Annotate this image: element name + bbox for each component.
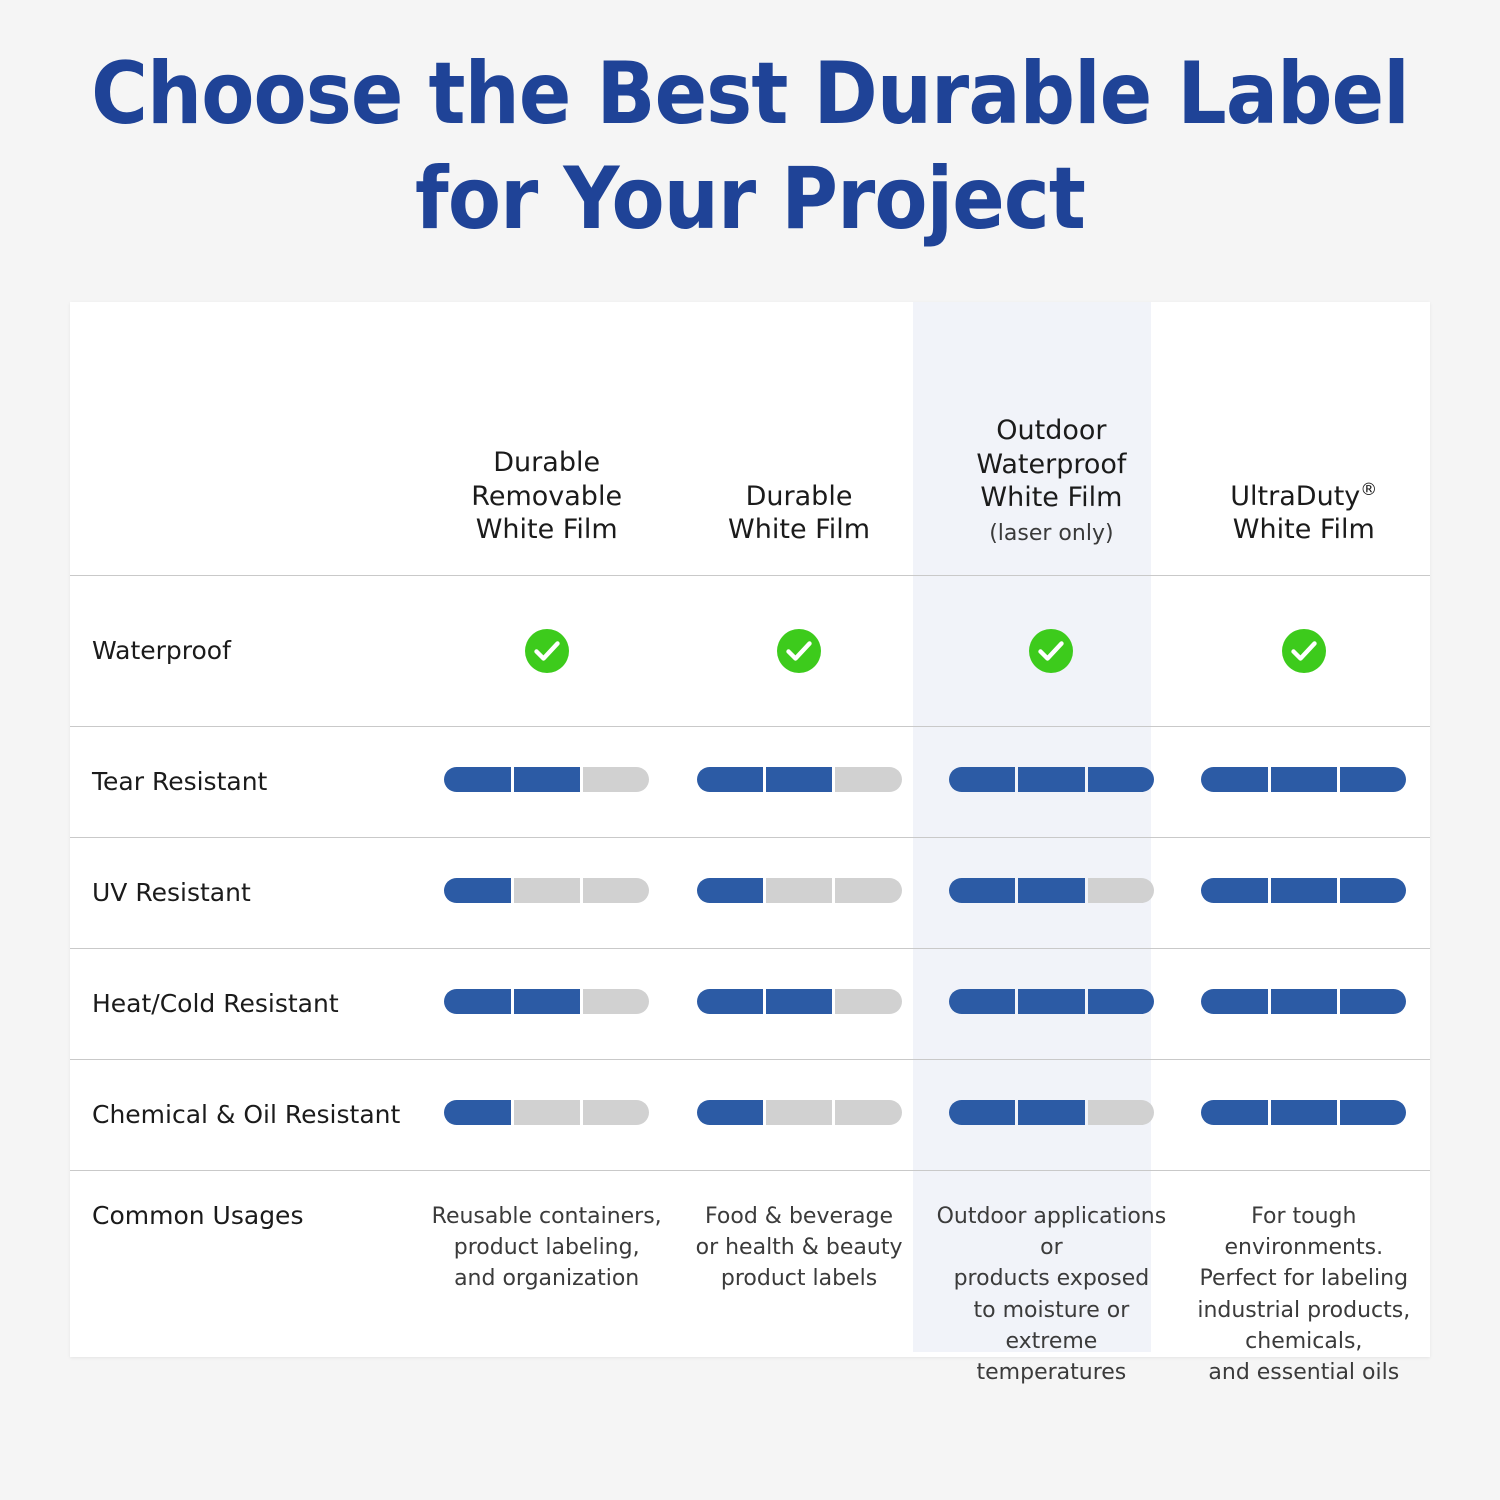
rating-bar	[697, 767, 902, 792]
column-header-durable-removable-white-film: Durable Removable White Film	[421, 302, 673, 576]
rating-segment	[1340, 878, 1406, 903]
rating-segment	[444, 1100, 510, 1125]
page-title-line-1: Choose the Best Durable Label	[75, 42, 1425, 147]
rating-segment	[949, 878, 1015, 903]
column-header-line-1: Durable Removable	[421, 446, 673, 513]
table-row-common-usages: Common Usages Reusable containers,produc…	[70, 1170, 1430, 1401]
cell-waterproof-outdoor-waterproof	[925, 575, 1177, 726]
rating-bar	[1201, 989, 1406, 1014]
rating-segment	[697, 767, 763, 792]
rating-segment	[583, 989, 649, 1014]
rating-bar	[949, 989, 1154, 1014]
table-row-tear-resistant: Tear Resistant	[70, 726, 1430, 837]
rating-segment	[1271, 878, 1337, 903]
column-header-outdoor-waterproof-white-film: Outdoor Waterproof White Film (laser onl…	[925, 302, 1177, 576]
rating-segment	[514, 1100, 580, 1125]
cell-heat-ultraduty	[1178, 948, 1430, 1059]
column-header-line-2: White Film	[673, 513, 925, 546]
cell-usages-durable: Food & beverageor health & beautyproduct…	[673, 1170, 925, 1401]
cell-chemical-outdoor-waterproof	[925, 1059, 1177, 1170]
rating-bar	[444, 1100, 649, 1125]
registered-trademark-icon: ®	[1360, 480, 1377, 500]
rating-segment	[1201, 767, 1267, 792]
rating-bar	[444, 878, 649, 903]
cell-tear-durable	[673, 726, 925, 837]
rating-segment	[1088, 989, 1154, 1014]
column-header-durable-white-film: Durable White Film	[673, 302, 925, 576]
column-header-line-2: White Film	[421, 513, 673, 546]
cell-usages-durable-removable: Reusable containers,product labeling,and…	[421, 1170, 673, 1401]
rating-bar	[1201, 878, 1406, 903]
cell-usages-ultraduty: For tough environments.Perfect for label…	[1178, 1170, 1430, 1401]
rating-segment	[949, 767, 1015, 792]
cell-waterproof-durable-removable	[421, 575, 673, 726]
cell-usages-outdoor-waterproof: Outdoor applications orproducts exposedt…	[925, 1170, 1177, 1401]
rating-segment	[444, 989, 510, 1014]
rating-segment	[766, 1100, 832, 1125]
rating-segment	[949, 989, 1015, 1014]
row-label-common-usages: Common Usages	[70, 1170, 421, 1401]
cell-uv-outdoor-waterproof	[925, 837, 1177, 948]
check-circle-icon	[1028, 628, 1074, 674]
cell-tear-outdoor-waterproof	[925, 726, 1177, 837]
column-header-subtitle: (laser only)	[925, 520, 1177, 547]
comparison-card-wrapper: Durable Removable White Film Durable Whi…	[70, 302, 1430, 1357]
table-body: Waterproof	[70, 575, 1430, 1401]
cell-uv-durable-removable	[421, 837, 673, 948]
page-title: Choose the Best Durable Label for Your P…	[0, 0, 1500, 252]
rating-segment	[1018, 767, 1084, 792]
rating-segment	[835, 1100, 901, 1125]
column-header-brand: UltraDuty	[1230, 481, 1360, 512]
column-header-ultraduty-white-film: UltraDuty® White Film	[1178, 302, 1430, 576]
rating-segment	[697, 989, 763, 1014]
rating-segment	[583, 878, 649, 903]
rating-segment	[1271, 767, 1337, 792]
cell-tear-durable-removable	[421, 726, 673, 837]
page-title-line-2: for Your Project	[75, 147, 1425, 252]
rating-bar	[1201, 767, 1406, 792]
rating-bar	[949, 878, 1154, 903]
cell-uv-ultraduty	[1178, 837, 1430, 948]
rating-segment	[1201, 1100, 1267, 1125]
rating-segment	[1340, 989, 1406, 1014]
table-row-heat-cold-resistant: Heat/Cold Resistant	[70, 948, 1430, 1059]
rating-segment	[1088, 1100, 1154, 1125]
rating-segment	[835, 989, 901, 1014]
rating-segment	[514, 767, 580, 792]
rating-segment	[444, 878, 510, 903]
rating-segment	[1018, 878, 1084, 903]
rating-bar	[697, 1100, 902, 1125]
row-label-uv-resistant: UV Resistant	[70, 837, 421, 948]
rating-segment	[1088, 878, 1154, 903]
check-circle-icon	[1281, 628, 1327, 674]
column-header-line-1: Durable	[673, 480, 925, 513]
rating-segment	[949, 1100, 1015, 1125]
comparison-card: Durable Removable White Film Durable Whi…	[70, 302, 1430, 1357]
table-header: Durable Removable White Film Durable Whi…	[70, 302, 1430, 576]
column-header-line-1: UltraDuty®	[1178, 480, 1430, 513]
rating-segment	[1271, 1100, 1337, 1125]
check-circle-icon	[524, 628, 570, 674]
usage-text: Outdoor applications orproducts exposedt…	[925, 1201, 1177, 1388]
cell-tear-ultraduty	[1178, 726, 1430, 837]
cell-heat-outdoor-waterproof	[925, 948, 1177, 1059]
cell-heat-durable	[673, 948, 925, 1059]
rating-segment	[1018, 1100, 1084, 1125]
column-header-line-1: Outdoor	[925, 414, 1177, 447]
rating-segment	[697, 878, 763, 903]
cell-chemical-durable	[673, 1059, 925, 1170]
rating-bar	[949, 767, 1154, 792]
column-header-line-2: White Film	[1178, 513, 1430, 546]
cell-chemical-durable-removable	[421, 1059, 673, 1170]
table-row-uv-resistant: UV Resistant	[70, 837, 1430, 948]
rating-segment	[766, 878, 832, 903]
row-label-waterproof: Waterproof	[70, 575, 421, 726]
table-row-waterproof: Waterproof	[70, 575, 1430, 726]
cell-chemical-ultraduty	[1178, 1059, 1430, 1170]
cell-uv-durable	[673, 837, 925, 948]
cell-waterproof-durable	[673, 575, 925, 726]
cell-heat-durable-removable	[421, 948, 673, 1059]
rating-segment	[1271, 989, 1337, 1014]
rating-segment	[583, 1100, 649, 1125]
rating-segment	[1018, 989, 1084, 1014]
rating-bar	[1201, 1100, 1406, 1125]
rating-segment	[1088, 767, 1154, 792]
product-comparison-table: Durable Removable White Film Durable Whi…	[70, 302, 1430, 1401]
column-header-line-3: White Film	[925, 481, 1177, 514]
rating-segment	[514, 878, 580, 903]
rating-segment	[583, 767, 649, 792]
rating-segment	[835, 767, 901, 792]
table-row-chemical-oil-resistant: Chemical & Oil Resistant	[70, 1059, 1430, 1170]
usage-text: For tough environments.Perfect for label…	[1178, 1201, 1430, 1388]
row-label-heat-cold-resistant: Heat/Cold Resistant	[70, 948, 421, 1059]
column-header-line-2: Waterproof	[925, 448, 1177, 481]
rating-bar	[697, 878, 902, 903]
row-label-chemical-oil-resistant: Chemical & Oil Resistant	[70, 1059, 421, 1170]
rating-bar	[697, 989, 902, 1014]
usage-text: Food & beverageor health & beautyproduct…	[673, 1201, 925, 1295]
check-circle-icon	[776, 628, 822, 674]
rating-segment	[766, 989, 832, 1014]
rating-segment	[1201, 989, 1267, 1014]
rating-bar	[444, 989, 649, 1014]
usage-text: Reusable containers,product labeling,and…	[421, 1201, 673, 1295]
header-corner-cell	[70, 302, 421, 576]
rating-bar	[444, 767, 649, 792]
table-header-row: Durable Removable White Film Durable Whi…	[70, 302, 1430, 576]
rating-bar	[949, 1100, 1154, 1125]
rating-segment	[444, 767, 510, 792]
rating-segment	[835, 878, 901, 903]
rating-segment	[1340, 1100, 1406, 1125]
rating-segment	[1201, 878, 1267, 903]
row-label-tear-resistant: Tear Resistant	[70, 726, 421, 837]
cell-waterproof-ultraduty	[1178, 575, 1430, 726]
rating-segment	[1340, 767, 1406, 792]
rating-segment	[514, 989, 580, 1014]
rating-segment	[697, 1100, 763, 1125]
rating-segment	[766, 767, 832, 792]
